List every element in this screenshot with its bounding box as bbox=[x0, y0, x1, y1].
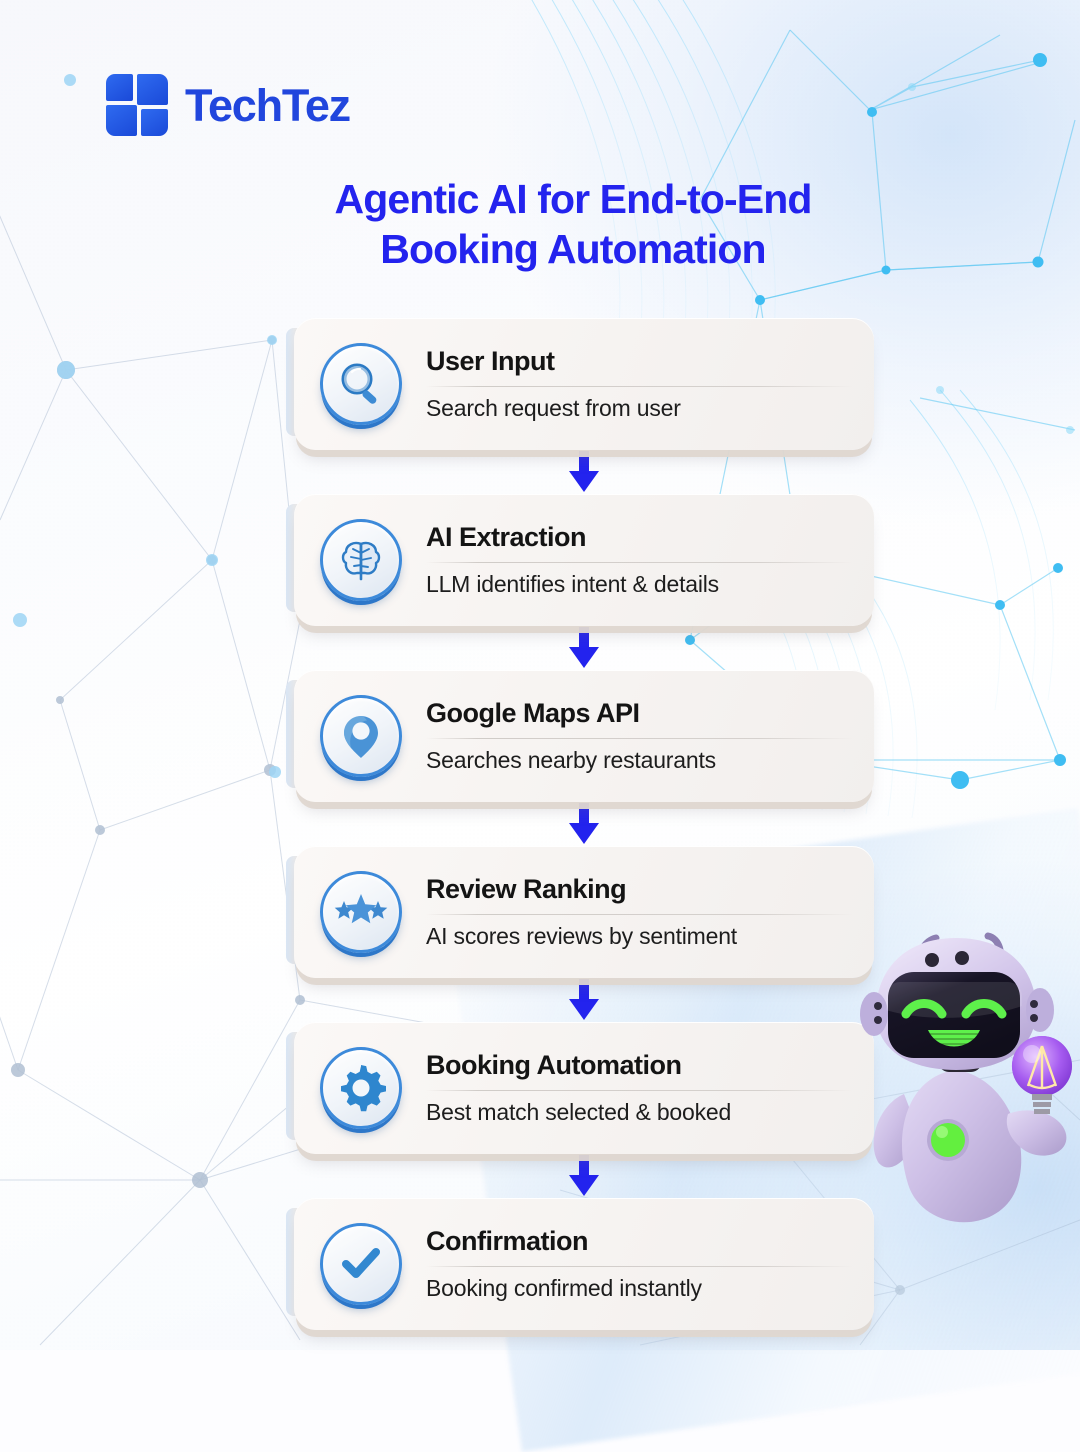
brand-logo: TechTez bbox=[106, 74, 350, 136]
flow-step-text: Confirmation Booking confirmed instantly bbox=[426, 1227, 874, 1301]
flow-step-user-input[interactable]: User Input Search request from user bbox=[294, 318, 874, 450]
flow-step-divider bbox=[426, 738, 852, 739]
flow-step-desc: Search request from user bbox=[426, 395, 852, 421]
flow-step-divider bbox=[426, 562, 852, 563]
page-title-line-2: Booking Automation bbox=[66, 224, 1080, 274]
flow-connector-1 bbox=[294, 450, 874, 494]
flow-step-divider bbox=[426, 914, 852, 915]
flow-step-booking-automation[interactable]: Booking Automation Best match selected &… bbox=[294, 1022, 874, 1154]
flow-step-text: Booking Automation Best match selected &… bbox=[426, 1051, 874, 1125]
down-arrow-icon bbox=[567, 803, 601, 845]
flow-step-google-maps-api[interactable]: Google Maps API Searches nearby restaura… bbox=[294, 670, 874, 802]
flow-step-text: Google Maps API Searches nearby restaura… bbox=[426, 699, 874, 773]
process-flow: User Input Search request from user AI E… bbox=[294, 318, 874, 1330]
down-arrow-icon bbox=[567, 451, 601, 493]
brand-name: TechTez bbox=[185, 83, 350, 128]
flow-step-text: User Input Search request from user bbox=[426, 347, 874, 421]
brain-icon bbox=[320, 519, 402, 601]
flow-connector-3 bbox=[294, 802, 874, 846]
flow-step-review-ranking[interactable]: Review Ranking AI scores reviews by sent… bbox=[294, 846, 874, 978]
flow-step-desc: AI scores reviews by sentiment bbox=[426, 923, 852, 949]
check-circle-icon bbox=[320, 1223, 402, 1305]
map-pin-icon bbox=[320, 695, 402, 777]
four-square-pinwheel-logo-icon bbox=[106, 74, 168, 136]
flow-step-title: Google Maps API bbox=[426, 699, 852, 729]
flow-connector-4 bbox=[294, 978, 874, 1022]
flow-step-divider bbox=[426, 1266, 852, 1267]
flow-step-desc: Booking confirmed instantly bbox=[426, 1275, 852, 1301]
flow-step-title: Booking Automation bbox=[426, 1051, 852, 1081]
flow-step-desc: LLM identifies intent & details bbox=[426, 571, 852, 597]
flow-step-divider bbox=[426, 386, 852, 387]
down-arrow-icon bbox=[567, 979, 601, 1021]
flow-step-text: Review Ranking AI scores reviews by sent… bbox=[426, 875, 874, 949]
flow-step-title: Review Ranking bbox=[426, 875, 852, 905]
robot-mascot-with-lightbulb-icon bbox=[856, 918, 1080, 1256]
flow-step-title: AI Extraction bbox=[426, 523, 852, 553]
flow-step-title: Confirmation bbox=[426, 1227, 852, 1257]
flow-step-desc: Searches nearby restaurants bbox=[426, 747, 852, 773]
three-stars-icon bbox=[320, 871, 402, 953]
flow-step-divider bbox=[426, 1090, 852, 1091]
flow-step-desc: Best match selected & booked bbox=[426, 1099, 852, 1125]
page-title: Agentic AI for End-to-End Booking Automa… bbox=[0, 174, 1080, 274]
gear-icon bbox=[320, 1047, 402, 1129]
flow-step-confirmation[interactable]: Confirmation Booking confirmed instantly bbox=[294, 1198, 874, 1330]
flow-step-text: AI Extraction LLM identifies intent & de… bbox=[426, 523, 874, 597]
page-title-line-1: Agentic AI for End-to-End bbox=[66, 174, 1080, 224]
down-arrow-icon bbox=[567, 627, 601, 669]
magnifier-icon bbox=[320, 343, 402, 425]
flow-connector-5 bbox=[294, 1154, 874, 1198]
down-arrow-icon bbox=[567, 1155, 601, 1197]
flow-connector-2 bbox=[294, 626, 874, 670]
flow-step-ai-extraction[interactable]: AI Extraction LLM identifies intent & de… bbox=[294, 494, 874, 626]
flow-step-title: User Input bbox=[426, 347, 852, 377]
